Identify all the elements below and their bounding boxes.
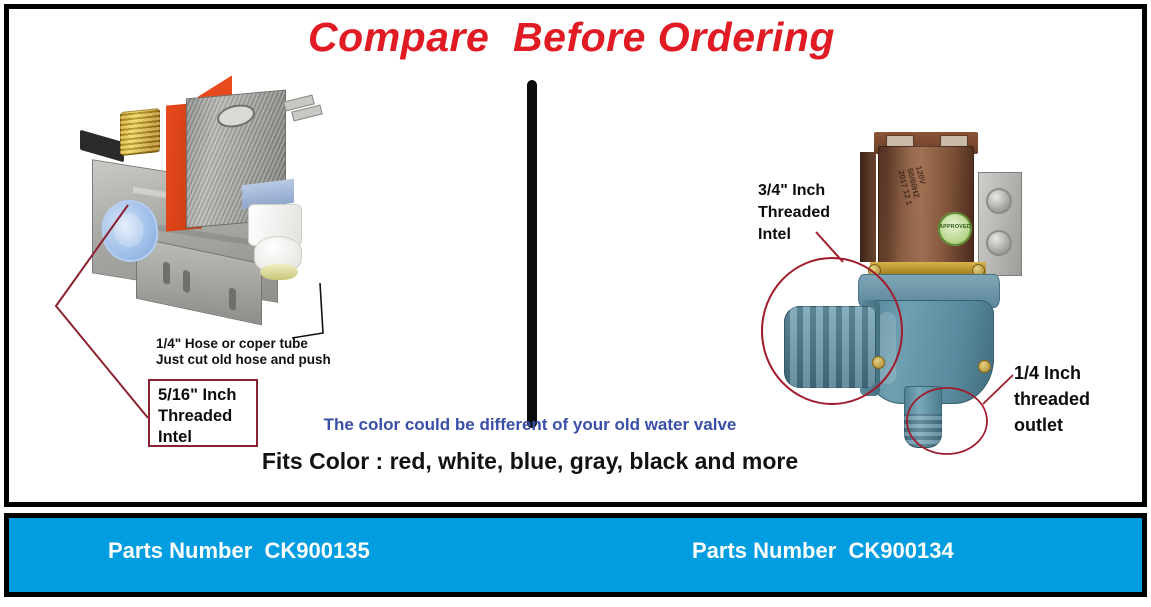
approved-sticker-label: APPROVED <box>938 224 972 230</box>
approved-sticker-icon: APPROVED <box>938 212 972 246</box>
right-valve-image: 120V 50/60HZ 2017 12 1 APPROVED <box>782 128 1044 434</box>
right-coil-frame-leg <box>860 152 876 262</box>
page-title: Compare Before Ordering <box>0 14 1143 61</box>
left-valve-brass-fitting <box>120 108 160 156</box>
left-bracket-slot-2 <box>183 270 190 293</box>
fits-color-note: Fits Color : red, white, blue, gray, bla… <box>180 448 880 475</box>
right-valve-solenoid <box>878 146 974 264</box>
right-screw-4 <box>978 360 991 373</box>
vertical-divider <box>527 80 537 428</box>
left-part-number: Parts Number CK900135 <box>108 538 370 564</box>
right-screw-3 <box>872 356 885 369</box>
right-threaded-inlet-annotation: 3/4" Inch Threaded Intel <box>758 180 830 246</box>
comparison-graphic: Compare Before Ordering <box>0 0 1151 607</box>
left-threaded-inlet-callout: 5/16" Inch Threaded Intel <box>148 379 258 447</box>
left-brass-threads <box>120 108 160 156</box>
right-solenoid-shading <box>878 146 974 264</box>
right-part-number: Parts Number CK900134 <box>692 538 954 564</box>
right-threaded-outlet-annotation: 1/4 Inch threaded outlet <box>1014 360 1090 438</box>
right-valve-threaded-inlet <box>784 306 876 388</box>
right-inlet-threads <box>784 306 876 388</box>
right-bracket-bolt-1 <box>986 188 1012 214</box>
right-body-highlight <box>878 312 896 384</box>
left-valve-yellow-cap <box>260 264 298 280</box>
left-bracket-slot-3 <box>229 287 236 310</box>
left-valve-image <box>70 78 340 350</box>
right-valve-bracket <box>978 172 1022 276</box>
right-valve-threaded-outlet <box>904 386 942 448</box>
color-difference-note: The color could be different of your old… <box>200 415 860 435</box>
left-valve-black-clip <box>80 130 124 163</box>
left-bracket-slot-1 <box>163 261 170 284</box>
right-bracket-bolt-2 <box>986 230 1012 256</box>
left-hose-annotation: 1/4" Hose or coper tube Just cut old hos… <box>156 336 331 368</box>
right-outlet-threads <box>904 414 942 448</box>
